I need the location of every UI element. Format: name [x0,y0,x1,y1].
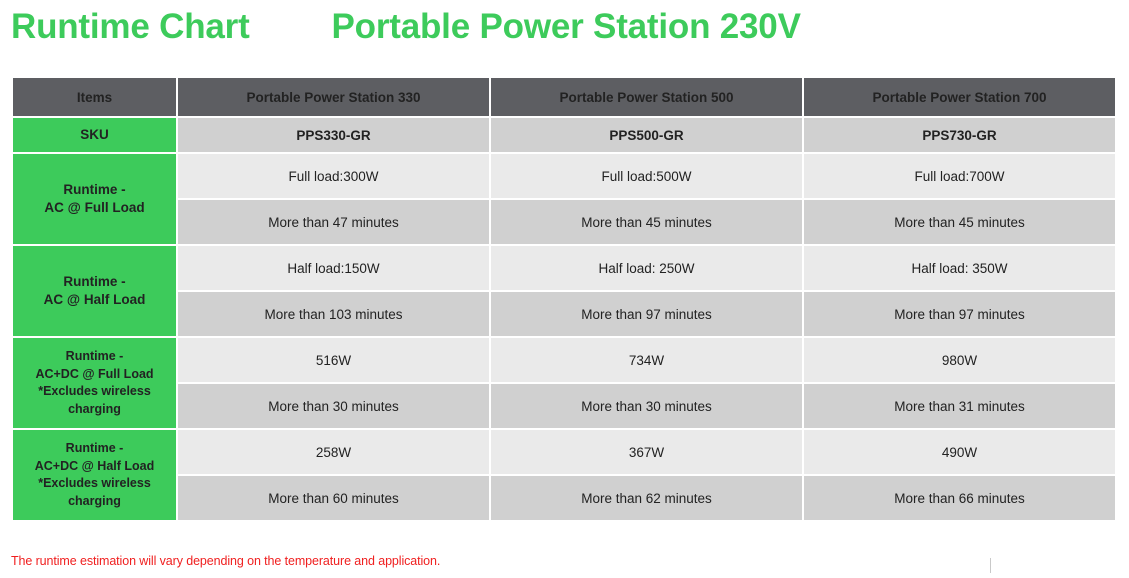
cell-ac-full-runtime-500: More than 45 minutes [491,200,802,244]
sku-value-500: PPS500-GR [491,118,802,152]
cell-ac-half-power-500: Half load: 250W [491,246,802,290]
cell-acdc-full-runtime-330: More than 30 minutes [178,384,489,428]
table-row-acdc-full-power: Runtime - AC+DC @ Full Load *Excludes wi… [13,338,1115,382]
row-label-runtime-acdc-half-load: Runtime - AC+DC @ Half Load *Excludes wi… [13,430,176,520]
cell-ac-half-runtime-330: More than 103 minutes [178,292,489,336]
cell-acdc-full-power-500: 734W [491,338,802,382]
table-row-ac-full-runtime: More than 47 minutes More than 45 minute… [13,200,1115,244]
cell-acdc-half-runtime-500: More than 62 minutes [491,476,802,520]
column-header-pps700: Portable Power Station 700 [804,78,1115,116]
row-label-line2: AC+DC @ Full Load [13,366,176,384]
cell-ac-full-runtime-330: More than 47 minutes [178,200,489,244]
table-row-acdc-half-power: Runtime - AC+DC @ Half Load *Excludes wi… [13,430,1115,474]
cell-acdc-full-runtime-700: More than 31 minutes [804,384,1115,428]
cell-acdc-half-runtime-700: More than 66 minutes [804,476,1115,520]
footnote-text: The runtime estimation will vary dependi… [11,554,440,568]
row-label-line3: *Excludes wireless [13,475,176,493]
row-label-sku: SKU [13,118,176,152]
page-corner-mark [990,558,991,573]
cell-acdc-half-power-700: 490W [804,430,1115,474]
row-label-line2: AC @ Full Load [13,199,176,217]
table-row-sku: SKU PPS330-GR PPS500-GR PPS730-GR [13,118,1115,152]
row-label-line2: AC @ Half Load [13,291,176,309]
cell-ac-half-power-700: Half load: 350W [804,246,1115,290]
cell-acdc-full-power-700: 980W [804,338,1115,382]
table-row-acdc-full-runtime: More than 30 minutes More than 30 minute… [13,384,1115,428]
cell-acdc-half-power-330: 258W [178,430,489,474]
row-label-runtime-ac-half-load: Runtime - AC @ Half Load [13,246,176,336]
row-label-line4: charging [13,401,176,419]
row-label-runtime-ac-full-load: Runtime - AC @ Full Load [13,154,176,244]
table-row-ac-full-power: Runtime - AC @ Full Load Full load:300W … [13,154,1115,198]
table-row-acdc-half-runtime: More than 60 minutes More than 62 minute… [13,476,1115,520]
table-row-ac-half-power: Runtime - AC @ Half Load Half load:150W … [13,246,1115,290]
table-header-row: Items Portable Power Station 330 Portabl… [13,78,1115,116]
cell-acdc-half-power-500: 367W [491,430,802,474]
page-title-sub: Portable Power Station 230V [332,7,801,47]
sku-value-700: PPS730-GR [804,118,1115,152]
column-header-pps500: Portable Power Station 500 [491,78,802,116]
cell-ac-half-power-330: Half load:150W [178,246,489,290]
row-label-line3: *Excludes wireless [13,383,176,401]
row-label-line1: Runtime - [13,181,176,199]
row-label-line1: Runtime - [13,348,176,366]
cell-ac-full-runtime-700: More than 45 minutes [804,200,1115,244]
row-label-line1: Runtime - [13,273,176,291]
row-label-runtime-acdc-full-load: Runtime - AC+DC @ Full Load *Excludes wi… [13,338,176,428]
cell-acdc-full-power-330: 516W [178,338,489,382]
cell-ac-half-runtime-700: More than 97 minutes [804,292,1115,336]
cell-ac-full-power-700: Full load:700W [804,154,1115,198]
column-header-items: Items [13,78,176,116]
row-label-line2: AC+DC @ Half Load [13,458,176,476]
column-header-pps330: Portable Power Station 330 [178,78,489,116]
cell-ac-full-power-500: Full load:500W [491,154,802,198]
page-title: Runtime Chart Portable Power Station 230… [11,4,1111,50]
row-label-line1: Runtime - [13,440,176,458]
row-label-line4: charging [13,493,176,511]
cell-acdc-half-runtime-330: More than 60 minutes [178,476,489,520]
runtime-chart-table: Items Portable Power Station 330 Portabl… [11,76,1117,522]
cell-ac-half-runtime-500: More than 97 minutes [491,292,802,336]
page-title-main: Runtime Chart [11,7,250,47]
table-row-ac-half-runtime: More than 103 minutes More than 97 minut… [13,292,1115,336]
sku-value-330: PPS330-GR [178,118,489,152]
cell-acdc-full-runtime-500: More than 30 minutes [491,384,802,428]
cell-ac-full-power-330: Full load:300W [178,154,489,198]
